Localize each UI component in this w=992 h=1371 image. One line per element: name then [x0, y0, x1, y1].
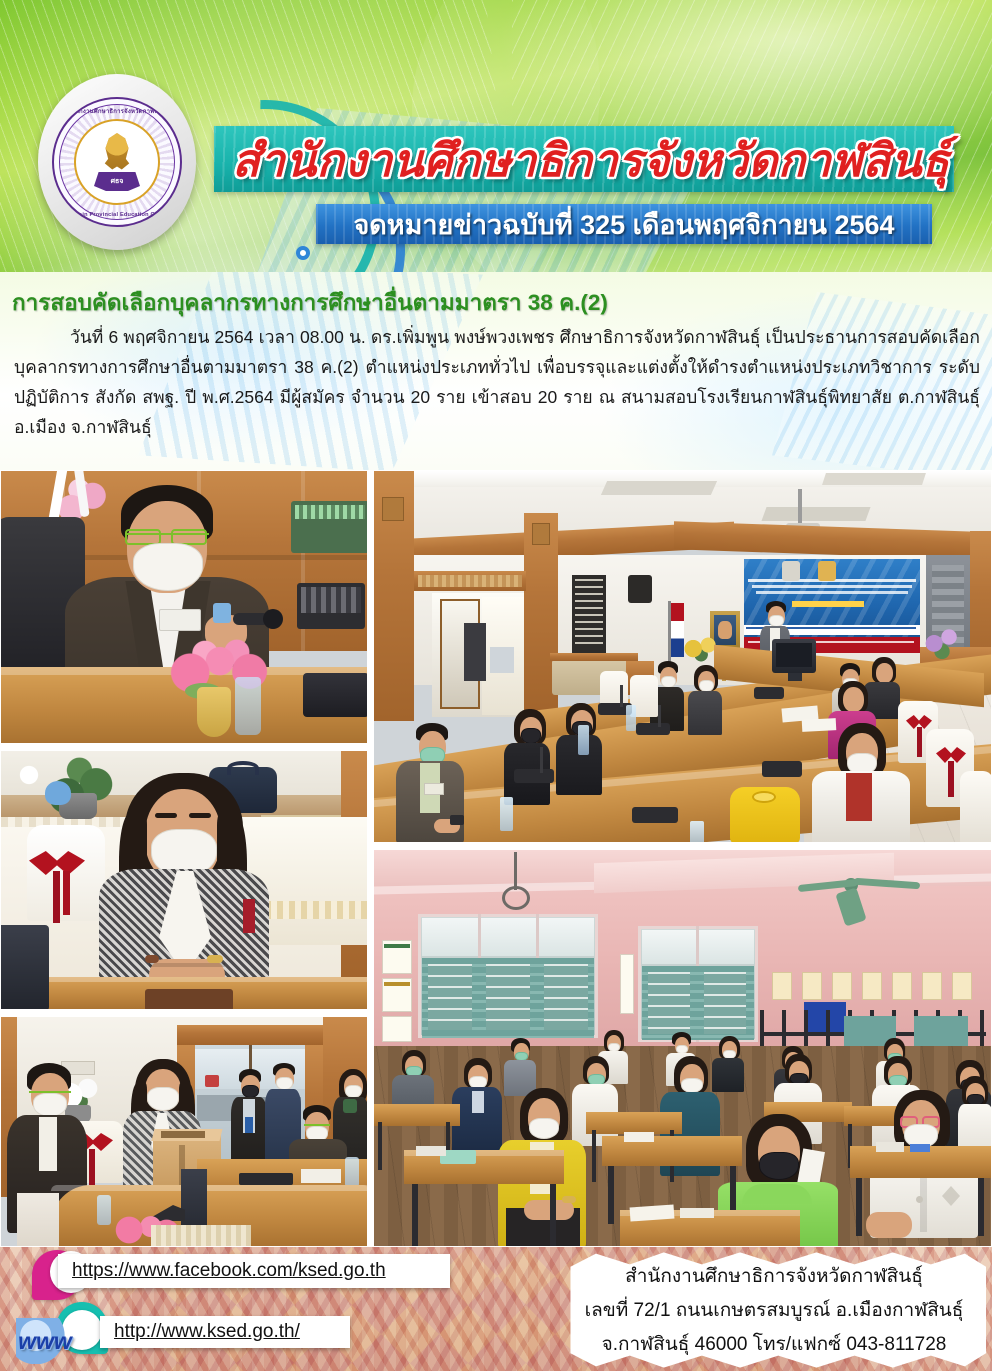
address-line-2: เลขที่ 72/1 ถนนเกษตรสมบูรณ์ อ.เมืองกาฬสิ… — [585, 1295, 964, 1325]
photo-exam-room — [373, 849, 992, 1247]
photo-opening-exam-box — [0, 1016, 368, 1247]
article-headline: การสอบคัดเลือกบุคลากรทางการศึกษาอื่นตามม… — [12, 284, 712, 320]
logo-emblem-text: ศธจ — [111, 176, 124, 187]
photo-officer-portrait — [0, 750, 368, 1010]
photo-conference-room — [373, 470, 992, 843]
www-globe-icon: www — [16, 1318, 74, 1364]
logo-bottom-text: Kalasin Provincial Education Office — [54, 212, 180, 218]
logo-seal: สำนักงานศึกษาธิการจังหวัดกาฬสินธุ์ Kalas… — [52, 97, 182, 227]
logo-top-text: สำนักงานศึกษาธิการจังหวัดกาฬสินธุ์ — [54, 106, 180, 116]
article-section: การสอบคัดเลือกบุคลากรทางการศึกษาอื่นตามม… — [0, 272, 992, 470]
organization-logo: สำนักงานศึกษาธิการจังหวัดกาฬสินธุ์ Kalas… — [38, 74, 196, 250]
issue-subtitle: จดหมายข่าวฉบับที่ 325 เดือนพฤศจิกายน 256… — [316, 203, 932, 245]
facebook-url-link[interactable]: https://www.facebook.com/ksed.go.th — [58, 1254, 450, 1288]
address-line-1: สำนักงานศึกษาธิการจังหวัดกาฬสินธุ์ — [625, 1261, 923, 1291]
office-address-plate: สำนักงานศึกษาธิการจังหวัดกาฬสินธุ์ เลขที… — [562, 1250, 986, 1370]
arc-dot-lower — [296, 246, 310, 260]
address-line-3: จ.กาฬสินธุ์ 46000 โทร/แฟกซ์ 043-811728 — [602, 1329, 947, 1359]
article-body: วันที่ 6 พฤศจิกายน 2564 เวลา 08.00 น. ดร… — [14, 322, 980, 442]
website-url-link[interactable]: http://www.ksed.go.th/ — [100, 1316, 350, 1348]
logo-inner-circle: ศธจ — [74, 119, 160, 205]
photo-chairman-at-table — [0, 470, 368, 744]
royal-crown-icon — [100, 133, 134, 171]
page-title: สำนักงานศึกษาธิการจังหวัดกาฬสินธุ์ — [206, 122, 976, 198]
logo-emblem-base: ศธจ — [94, 172, 140, 191]
